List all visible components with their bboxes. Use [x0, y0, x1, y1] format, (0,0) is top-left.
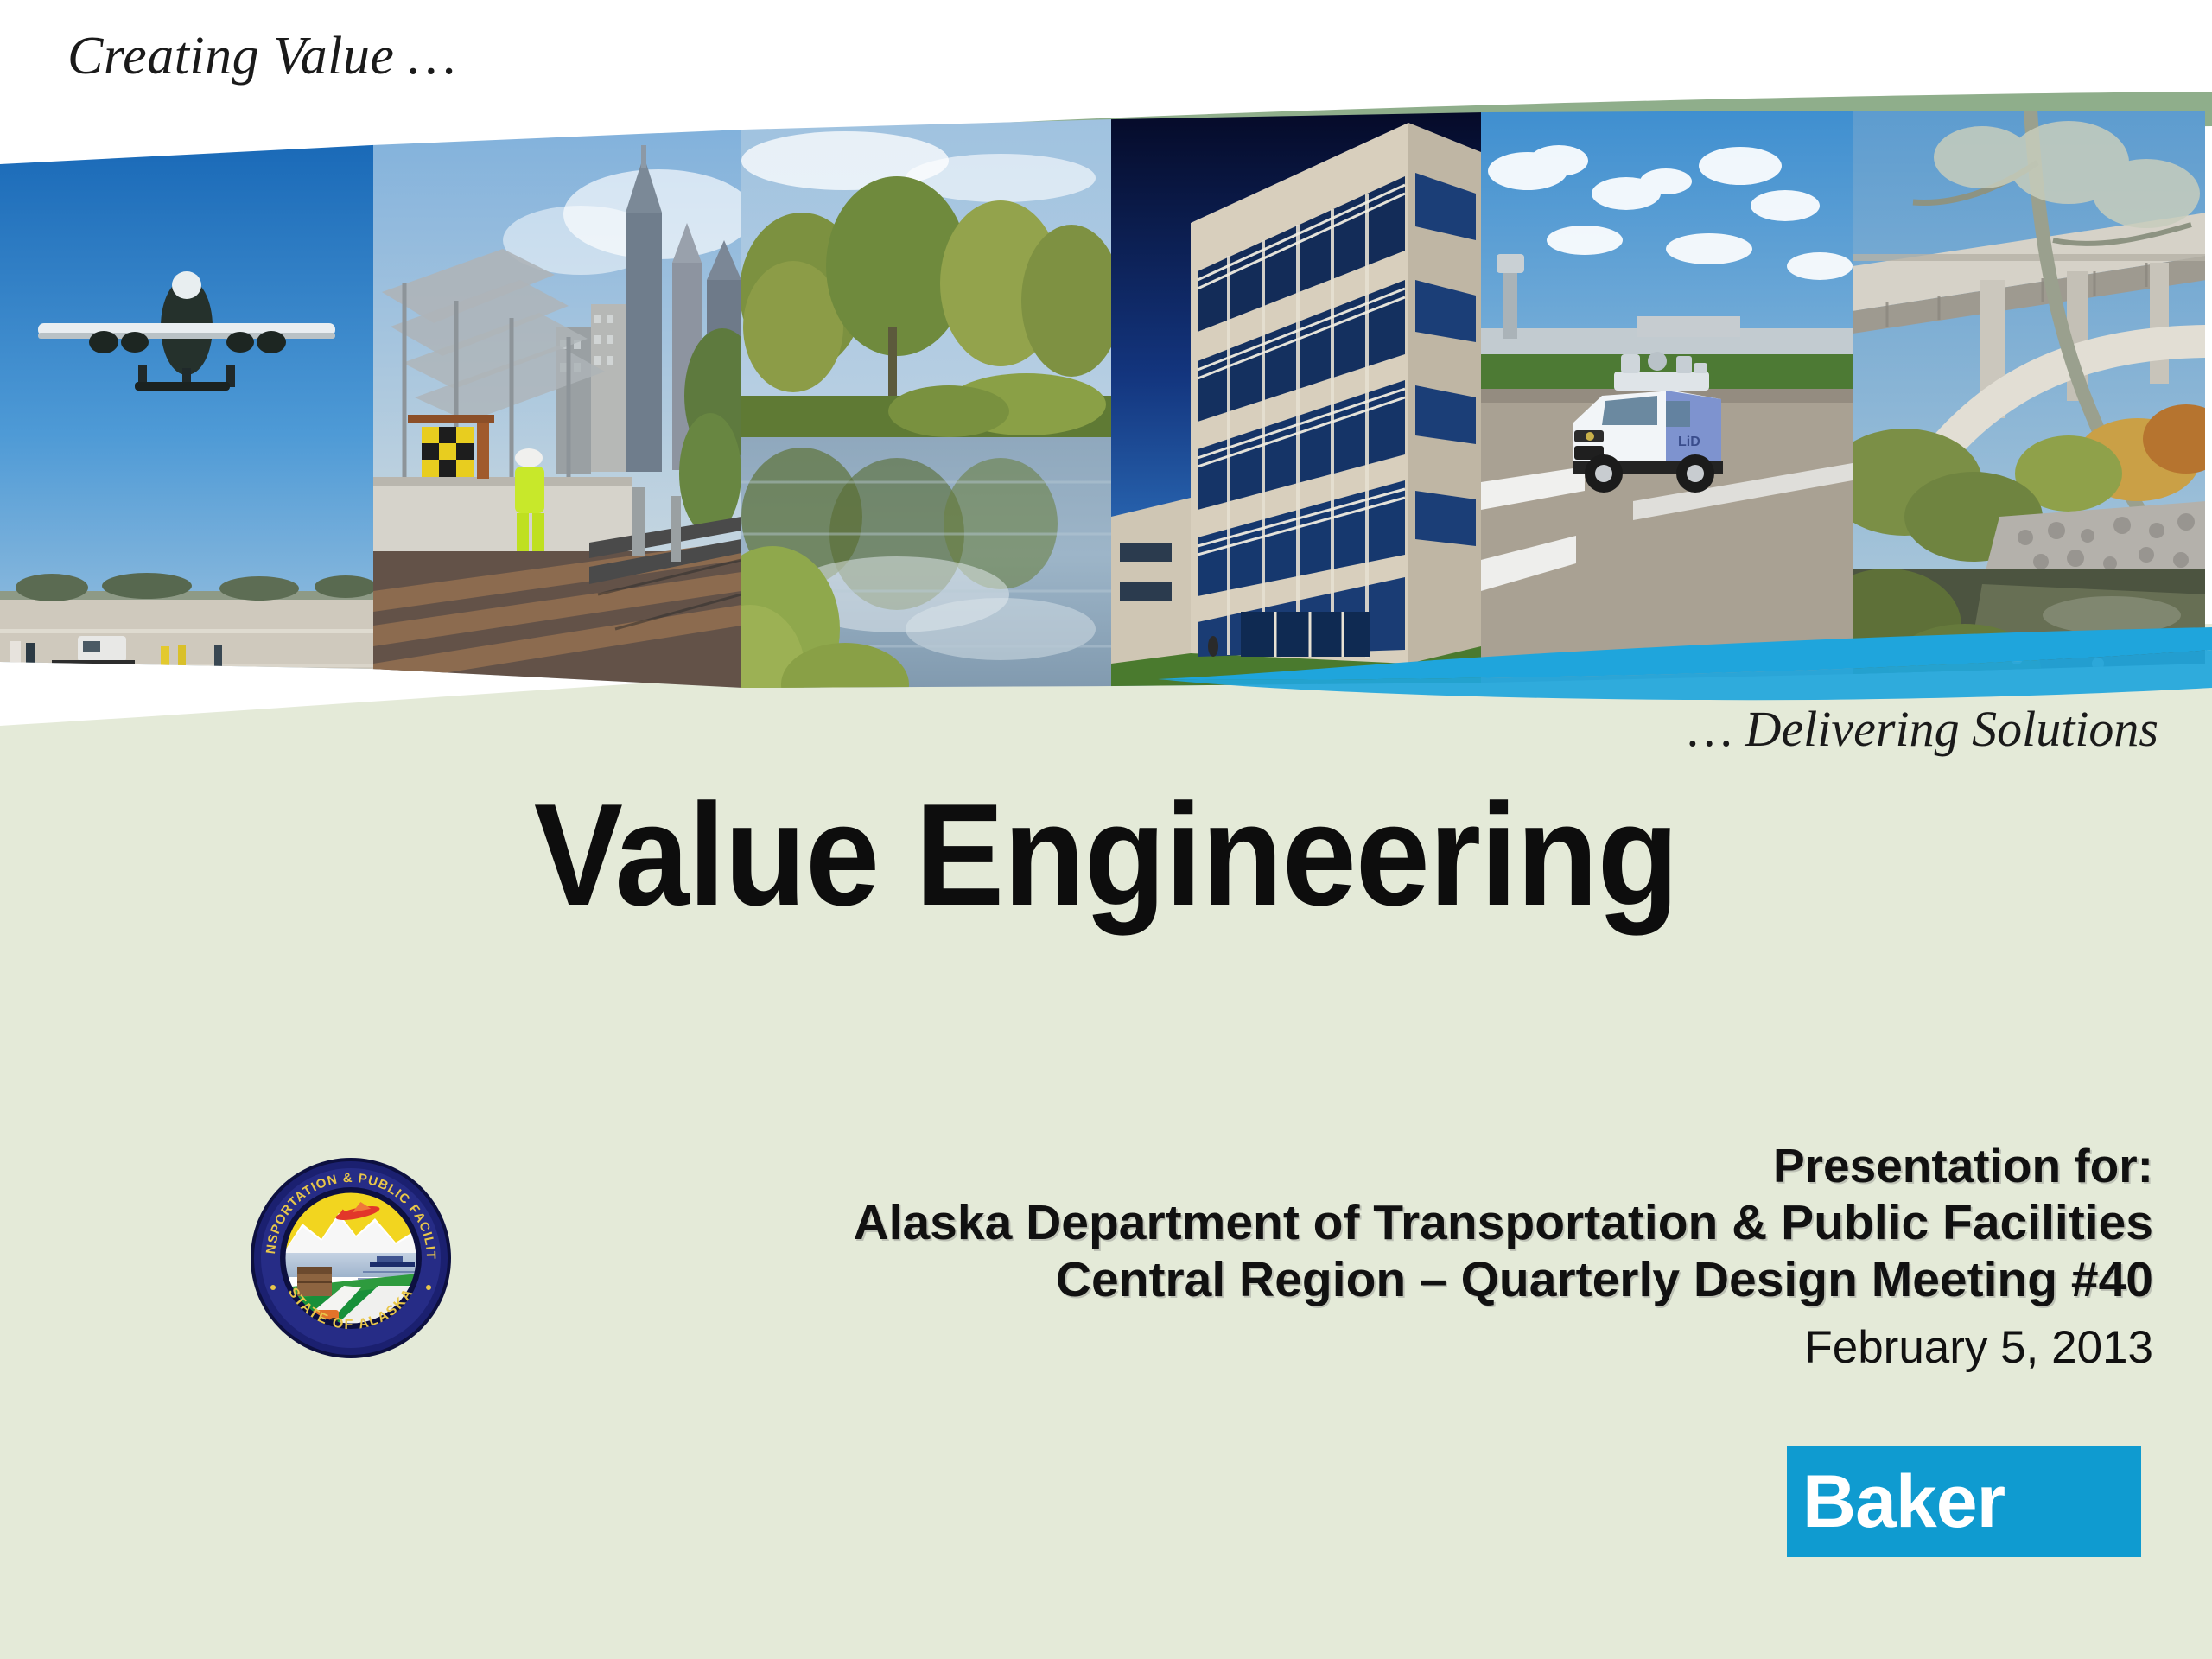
svg-text:LiD: LiD [1678, 435, 1700, 449]
tagline-creating-value: Creating Value … [67, 26, 456, 87]
presentation-info: Presentation for: Alaska Department of T… [853, 1139, 2153, 1376]
baker-logo: Baker [1787, 1446, 2141, 1557]
page-title: Value Engineering [88, 782, 2123, 927]
presentation-date: February 5, 2013 [853, 1320, 2153, 1376]
presentation-meeting: Central Region – Quarterly Design Meetin… [853, 1251, 2153, 1308]
baker-logo-text: Baker [1787, 1465, 2005, 1539]
presentation-organization: Alaska Department of Transportation & Pu… [853, 1194, 2153, 1251]
tagline-delivering-solutions: … Delivering Solutions [1688, 700, 2158, 758]
presentation-for-label: Presentation for: [853, 1139, 2153, 1194]
alaska-dot-pf-seal-icon: TRANSPORTATION & PUBLIC FACILITIES STATE… [249, 1156, 453, 1360]
presentation-slide: Creating Value … [0, 0, 2212, 1659]
